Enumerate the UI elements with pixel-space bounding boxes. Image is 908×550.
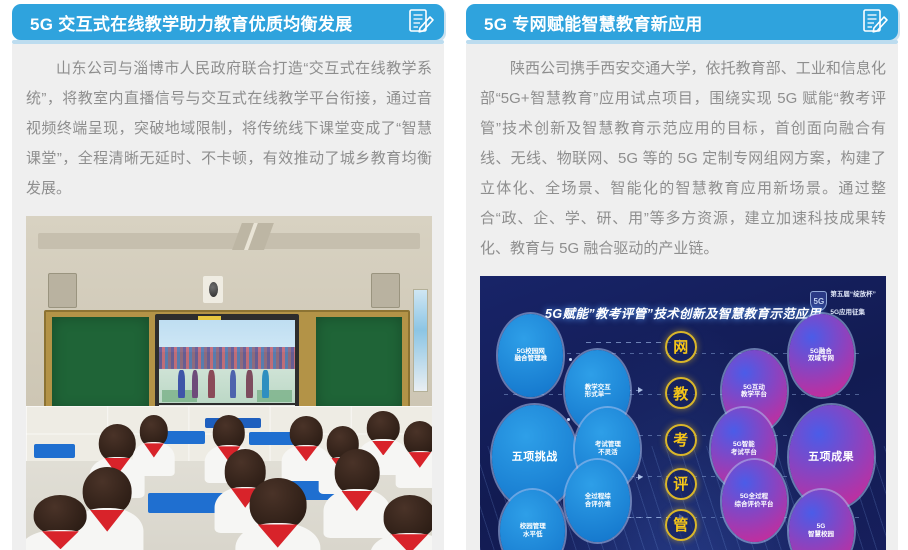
classroom-photo (26, 216, 432, 550)
display-screen (159, 320, 295, 403)
5g-education-diagram: 5G 第五届“绽放杯” 5G应用征集 5G赋能”教考评管”技术创新及智慧教育示范… (480, 276, 886, 550)
student (34, 495, 87, 550)
desk (34, 444, 75, 458)
speaker-right-icon (371, 273, 399, 308)
center-node-2: 教 (665, 377, 697, 409)
student (249, 478, 306, 550)
chalkboard-left-panel (52, 317, 150, 410)
speaker-left-icon (48, 273, 76, 308)
panel-right: 5G 专网赋能智慧教育新应用 陕西公司携手西安交通大学，依托教育部、工业和信息化… (460, 0, 898, 550)
badge-line-1: 第五届“绽放杯” (830, 291, 876, 298)
wall-poster (413, 289, 428, 391)
chalkboard-right-panel (316, 317, 403, 410)
center-node-1: 网 (665, 331, 697, 363)
result-node-1: 5G融合 双域专网 (789, 314, 854, 396)
panel-left: 5G 交互式在线教学助力教育优质均衡发展 山东公司与淄博市人民政府联合打造“交互… (6, 0, 444, 550)
panel-right-header-bar: 5G 专网赋能智慧教育新应用 (466, 4, 898, 40)
panel-left-header-bar: 5G 交互式在线教学助力教育优质均衡发展 (12, 4, 444, 40)
screen-crowd (159, 347, 295, 369)
panel-left-paragraph: 山东公司与淄博市人民政府联合打造“交互式在线教学系统”，将教室内直播信号与交互式… (12, 44, 444, 206)
panel-right-body: 陕西公司携手西安交通大学，依托教育部、工业和信息化部“5G+智慧教育”应用试点项… (466, 44, 898, 550)
center-node-4: 评 (665, 468, 697, 500)
student (335, 449, 380, 528)
panel-left-header: 5G 交互式在线教学助力教育优质均衡发展 (6, 0, 444, 44)
student (404, 421, 432, 481)
chalkboard (44, 310, 409, 418)
comparison-page: 5G 交互式在线教学助力教育优质均衡发展 山东公司与淄博市人民政府联合打造“交互… (0, 0, 908, 550)
students-area (26, 406, 432, 550)
challenge-node-1: 5G校园网 融合管理难 (498, 314, 563, 396)
center-node-3: 考 (665, 424, 697, 456)
ceiling-beam (38, 233, 420, 250)
challenge-node-4: 全过程综 合评价难 (565, 460, 630, 542)
camera-icon (203, 276, 223, 303)
student (140, 415, 168, 470)
document-pen-icon (406, 7, 436, 37)
panel-right-header: 5G 专网赋能智慧教育新应用 (460, 0, 898, 44)
document-pen-icon (860, 7, 890, 37)
result-node-4: 5G全过程 综合评价平台 (722, 460, 787, 542)
panel-left-header-underline (12, 40, 444, 44)
student (290, 416, 322, 473)
panel-left-body: 山东公司与淄博市人民政府联合打造“交互式在线教学系统”，将教室内直播信号与交互式… (12, 44, 444, 550)
student (383, 495, 432, 550)
panel-right-paragraph: 陕西公司携手西安交通大学，依托教育部、工业和信息化部“5G+智慧教育”应用试点项… (466, 44, 898, 266)
interactive-display (155, 314, 300, 413)
panel-left-title: 5G 交互式在线教学助力教育优质均衡发展 (30, 10, 406, 35)
panel-right-title: 5G 专网赋能智慧教育新应用 (484, 10, 860, 35)
panel-right-header-underline (466, 40, 898, 44)
center-node-5: 管 (665, 509, 697, 541)
